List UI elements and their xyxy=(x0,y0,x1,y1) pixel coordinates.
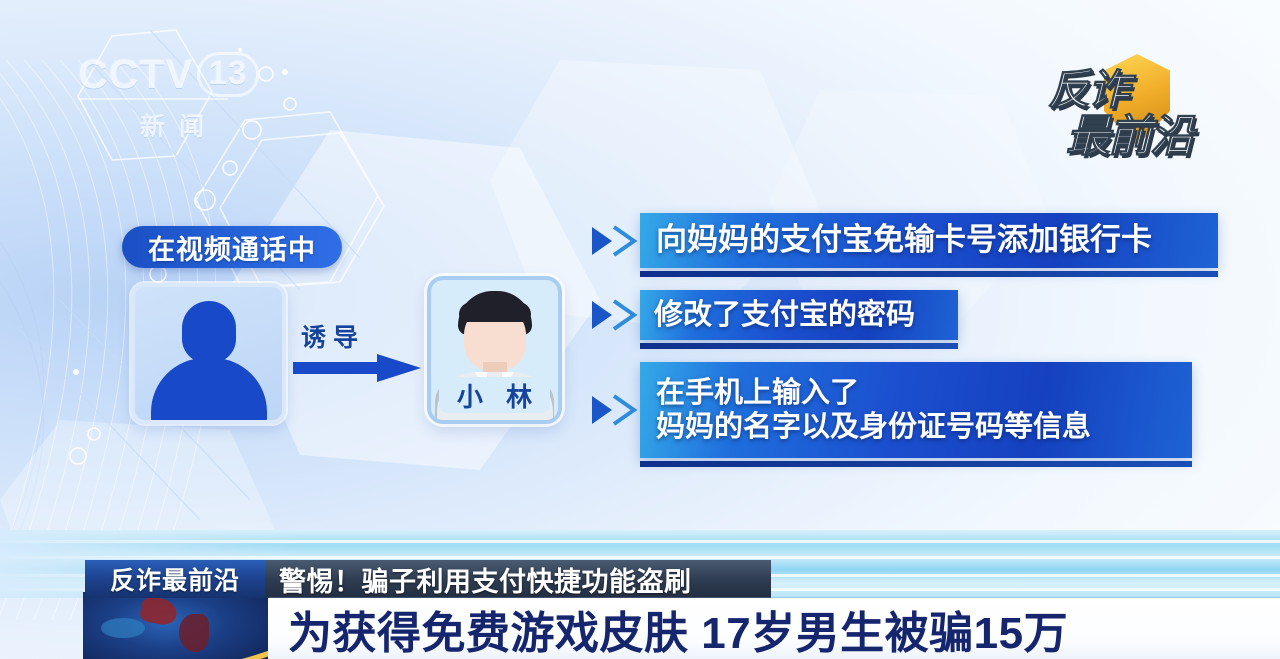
broadcast-frame: CCTV 13 新闻 反诈 最前沿 在视频通话中 诱导 xyxy=(0,0,1280,659)
program-logo: 反诈 最前沿 xyxy=(1042,52,1222,162)
cctv-channel-name: 新闻 xyxy=(78,107,268,143)
subheadline: 警惕！骗子利用支付快捷功能盗刷 xyxy=(265,560,771,598)
statement-item: 向妈妈的支付宝免输卡号添加银行卡 xyxy=(640,213,1218,268)
statement-item: 修改了支付宝的密码 xyxy=(640,290,958,340)
statement-text: 修改了支付宝的密码 xyxy=(654,298,915,332)
program-tag: 反诈最前沿 xyxy=(85,560,265,598)
scammer-avatar xyxy=(131,283,286,424)
relation-arrow-group: 诱导 xyxy=(293,318,423,384)
statement-text: 向妈妈的支付宝免输卡号添加银行卡 xyxy=(656,222,1152,259)
cctv13-logo: CCTV 13 新闻 xyxy=(78,52,268,142)
fringe-shape xyxy=(459,302,531,322)
status-badge-label: 在视频通话中 xyxy=(148,228,316,267)
cctv-wordmark: CCTV xyxy=(78,54,194,95)
victim-avatar: 小 林 xyxy=(427,276,562,424)
arrow-right-icon xyxy=(293,354,421,382)
relation-label: 诱导 xyxy=(301,318,365,354)
statement-box: 在手机上输入了 妈妈的名字以及身份证号码等信息 xyxy=(640,362,1192,458)
statement-text-line1: 在手机上输入了 xyxy=(656,376,1176,410)
status-badge: 在视频通话中 xyxy=(122,226,342,268)
globe-graphic xyxy=(83,592,268,659)
victim-name-badge: 小 林 xyxy=(439,377,550,413)
statement-box: 向妈妈的支付宝免输卡号添加银行卡 xyxy=(640,213,1218,268)
cctv-underline xyxy=(78,98,228,100)
person-silhouette-icon xyxy=(182,301,236,363)
lower-third-tag-row: 反诈最前沿 警惕！骗子利用支付快捷功能盗刷 xyxy=(85,560,771,598)
subheadline-label: 警惕！骗子利用支付快捷功能盗刷 xyxy=(279,560,692,599)
statement-text-line2: 妈妈的名字以及身份证号码等信息 xyxy=(656,410,1176,444)
headline-bar: 为获得免费游戏皮肤 17岁男生被骗15万 xyxy=(268,598,1280,659)
person-silhouette-body xyxy=(151,358,267,424)
statement-item: 在手机上输入了 妈妈的名字以及身份证号码等信息 xyxy=(640,362,1192,458)
victim-name-label: 小 林 xyxy=(449,377,540,414)
program-tag-label: 反诈最前沿 xyxy=(110,561,240,597)
chevron-right-icon xyxy=(592,393,638,427)
chevron-right-icon xyxy=(592,224,638,258)
chevron-right-icon xyxy=(592,298,638,332)
statement-box: 修改了支付宝的密码 xyxy=(640,290,958,340)
cctv-channel-number: 13 xyxy=(197,52,260,97)
program-logo-line2: 最前沿 xyxy=(1066,100,1192,164)
headline-label: 为获得免费游戏皮肤 17岁男生被骗15万 xyxy=(288,597,1068,659)
